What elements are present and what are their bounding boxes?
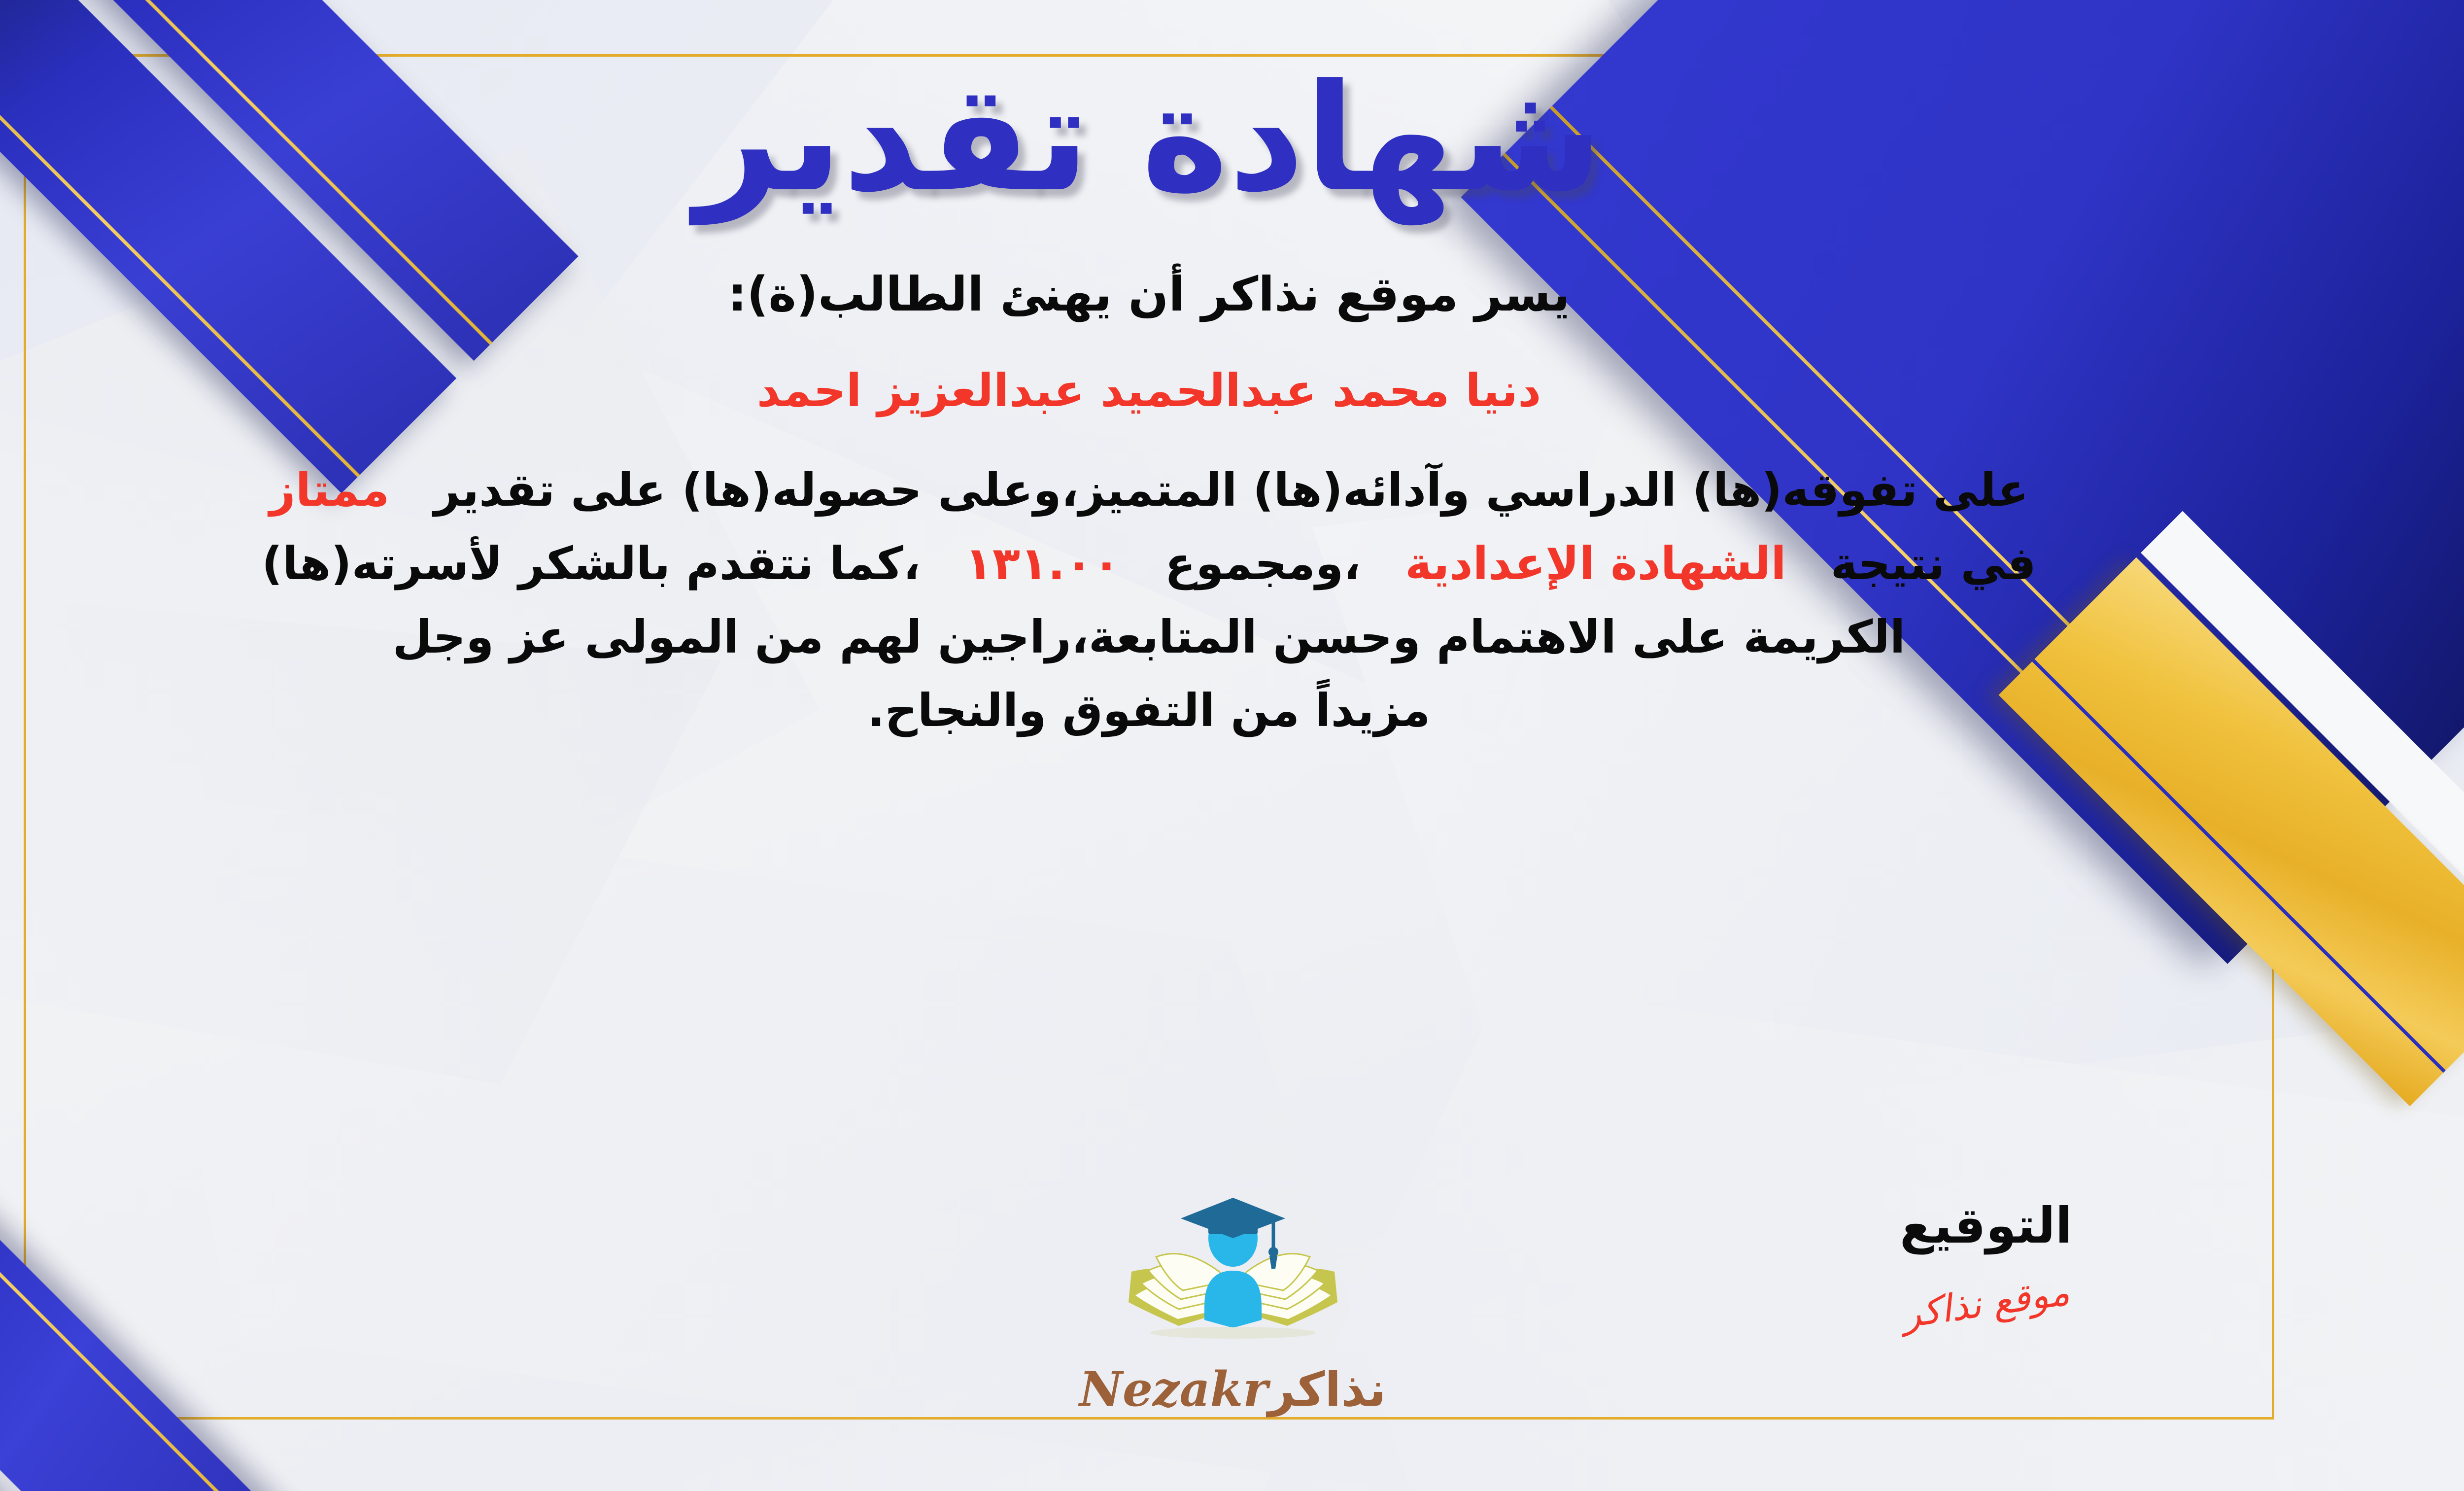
grade-value: ممتاز xyxy=(270,464,390,517)
intro-line: يسر موقع نذاكر أن يهنئ الطالب(ة): xyxy=(40,258,2258,331)
certificate-title: شهادة تقدير xyxy=(695,53,1603,223)
signature-script: موقع نذاكر xyxy=(1900,1270,2072,1337)
exam-text-1: في نتيجة xyxy=(1831,537,2036,590)
total-score: ١٣١.٠٠ xyxy=(965,537,1121,590)
signature-label: التوقيع xyxy=(1900,1197,2072,1254)
achievement-text-1: على تفوقه(ها) الدراسي وآدائه(ها) المتميز… xyxy=(434,464,2028,517)
graduate-on-book-icon xyxy=(1120,1197,1346,1359)
certificate-footer: التوقيع موقع نذاكر xyxy=(0,1197,2464,1417)
signature-block: التوقيع موقع نذاكر xyxy=(1764,1197,2208,1325)
achievement-paragraph: على تفوقه(ها) الدراسي وآدائه(ها) المتميز… xyxy=(40,453,2258,527)
certificate-canvas: شهادة تقدير يسر موقع نذاكر أن يهنئ الطال… xyxy=(0,0,2464,1491)
brand-name-arabic: نذاكر xyxy=(1268,1362,1386,1417)
brand-name-latin: Nezakr xyxy=(1079,1361,1268,1417)
brand-logo: نذاكرNezakr xyxy=(962,1197,1504,1417)
exam-text-3: ،كما نتقدم بالشكر لأسرته(ها) xyxy=(262,537,921,590)
exam-paragraph: في نتيجةالشهادة الإعدادية،ومجموع١٣١.٠٠،ك… xyxy=(40,527,2258,600)
exam-text-2: ،ومجموع xyxy=(1164,537,1361,590)
exam-name: الشهادة الإعدادية xyxy=(1405,537,1786,590)
certificate-body: يسر موقع نذاكر أن يهنئ الطالب(ة): دنيا م… xyxy=(40,258,2258,748)
thanks-paragraph: الكريمة على الاهتمام وحسن المتابعة،راجين… xyxy=(40,600,2258,674)
brand-logo-text: نذاكرNezakr xyxy=(1079,1361,1386,1417)
student-name: دنيا محمد عبدالحميد عبدالعزيز احمد xyxy=(40,356,2258,426)
closing-paragraph: مزيداً من التفوق والنجاح. xyxy=(40,674,2258,747)
